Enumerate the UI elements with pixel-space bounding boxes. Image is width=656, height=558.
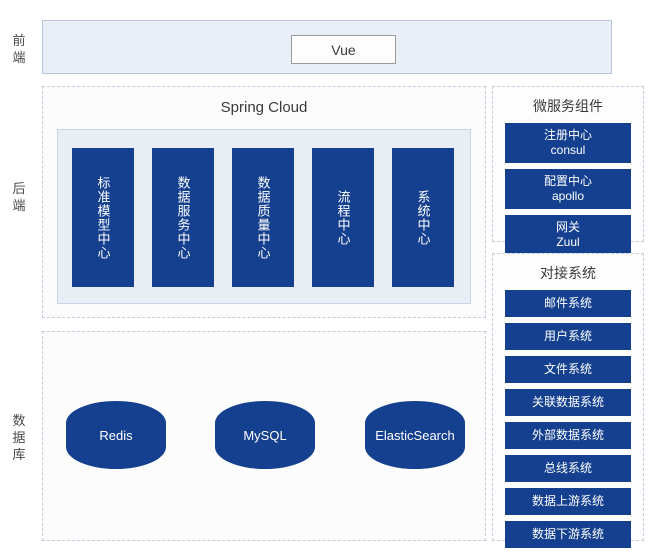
integration-chip-external-data[interactable]: 外部数据系统: [505, 422, 631, 449]
database-node-mysql[interactable]: MySQL: [215, 401, 315, 469]
architecture-diagram: 前 端 后 端 数 据 库 Vue Spring Cloud 标准模型中心 数据…: [0, 0, 656, 558]
integration-chip-downstream-data[interactable]: 数据下游系统: [505, 521, 631, 548]
tier-label-backend: 后 端: [2, 180, 36, 214]
database-node-elasticsearch[interactable]: ElasticSearch: [365, 401, 465, 469]
microservice-chip-config-name: 配置中心: [544, 174, 592, 188]
microservice-components-panel: 微服务组件 注册中心 consul 配置中心 apollo 网关 Zuul: [492, 86, 644, 242]
microservice-chip-config-tech: apollo: [505, 189, 631, 204]
microservice-chip-registry-tech: consul: [505, 143, 631, 158]
microservice-chip-config[interactable]: 配置中心 apollo: [505, 169, 631, 209]
spring-cloud-section: Spring Cloud 标准模型中心 数据服务中心 数据质量中心 流程中心 系…: [42, 86, 486, 318]
integration-chip-upstream-data[interactable]: 数据上游系统: [505, 488, 631, 515]
service-box-data-quality-center[interactable]: 数据质量中心: [232, 148, 294, 287]
microservice-components-title: 微服务组件: [493, 96, 643, 116]
microservice-chip-registry[interactable]: 注册中心 consul: [505, 123, 631, 163]
frontend-panel: Vue: [42, 20, 612, 74]
integration-chip-linked-data[interactable]: 关联数据系统: [505, 389, 631, 416]
microservice-chip-gateway-tech: Zuul: [505, 235, 631, 250]
frontend-node-vue[interactable]: Vue: [291, 35, 396, 64]
integration-chip-user[interactable]: 用户系统: [505, 323, 631, 350]
database-section: Redis MySQL ElasticSearch: [42, 331, 486, 541]
microservice-chip-registry-name: 注册中心: [544, 128, 592, 142]
integration-chip-mail[interactable]: 邮件系统: [505, 290, 631, 317]
service-box-standard-model-center[interactable]: 标准模型中心: [72, 148, 134, 287]
service-box-system-center[interactable]: 系统中心: [392, 148, 454, 287]
tier-label-database: 数 据 库: [2, 412, 36, 463]
microservice-chip-gateway-name: 网关: [556, 220, 580, 234]
service-box-data-service-center[interactable]: 数据服务中心: [152, 148, 214, 287]
integration-systems-panel: 对接系统 邮件系统 用户系统 文件系统 关联数据系统 外部数据系统 总线系统 数…: [492, 253, 644, 541]
microservice-chip-gateway[interactable]: 网关 Zuul: [505, 215, 631, 255]
spring-cloud-title: Spring Cloud: [43, 99, 485, 116]
integration-systems-title: 对接系统: [493, 263, 643, 283]
tier-label-frontend: 前 端: [2, 32, 36, 66]
service-box-process-center[interactable]: 流程中心: [312, 148, 374, 287]
database-node-redis[interactable]: Redis: [66, 401, 166, 469]
integration-chip-bus[interactable]: 总线系统: [505, 455, 631, 482]
service-tray: 标准模型中心 数据服务中心 数据质量中心 流程中心 系统中心: [57, 129, 471, 304]
integration-chip-file[interactable]: 文件系统: [505, 356, 631, 383]
